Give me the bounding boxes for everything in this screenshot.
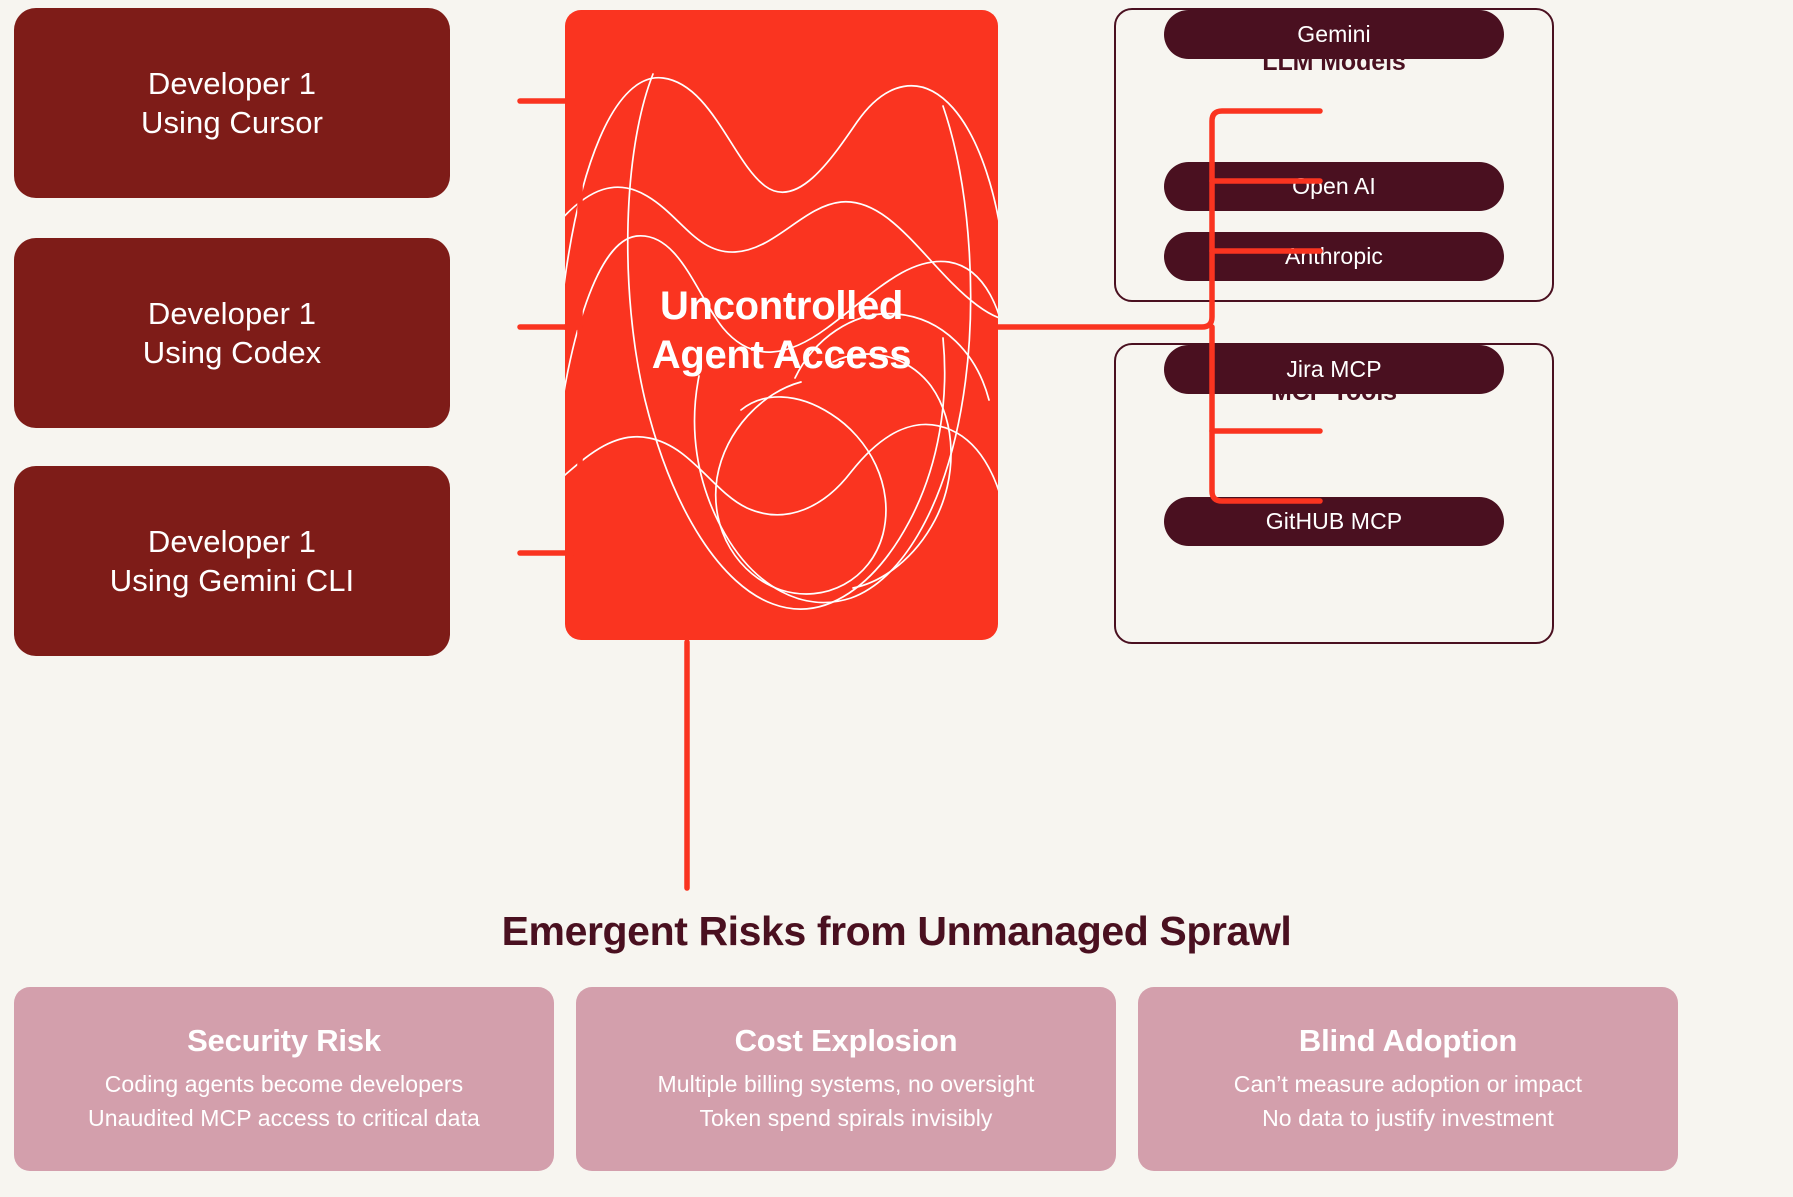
emergent-risks-heading: Emergent Risks from Unmanaged Sprawl: [0, 908, 1793, 955]
developer-box-line2: Using Gemini CLI: [110, 561, 355, 600]
risk-card-line1: Coding agents become developers: [105, 1067, 464, 1101]
pill-label: Jira MCP: [1286, 356, 1381, 383]
developer-box-codex[interactable]: Developer 1 Using Codex: [14, 238, 450, 428]
pill-anthropic[interactable]: Anthropic: [1164, 232, 1504, 281]
developer-box-line1: Developer 1: [148, 522, 316, 561]
risk-card-line1: Multiple billing systems, no oversight: [657, 1067, 1034, 1101]
llm-models-group: LLM Models Open AI Anthropic Gemini: [1114, 8, 1554, 302]
center-panel-title-line1: Uncontrolled: [565, 282, 998, 331]
developer-box-line2: Using Codex: [143, 333, 322, 372]
pill-gemini[interactable]: Gemini: [1164, 10, 1504, 59]
pill-label: GitHUB MCP: [1266, 508, 1402, 535]
developer-box-line1: Developer 1: [148, 294, 316, 333]
pill-open-ai[interactable]: Open AI: [1164, 162, 1504, 211]
risk-card-title: Cost Explosion: [735, 1023, 958, 1059]
risk-card-line2: Unaudited MCP access to critical data: [88, 1101, 480, 1135]
developer-box-cursor[interactable]: Developer 1 Using Cursor: [14, 8, 450, 198]
mcp-tools-group: MCP Tools GitHUB MCP Jira MCP: [1114, 343, 1554, 644]
risk-card-line2: Token spend spirals invisibly: [699, 1101, 992, 1135]
developer-box-line2: Using Cursor: [141, 103, 323, 142]
pill-label: Open AI: [1292, 173, 1376, 200]
risk-card-title: Blind Adoption: [1299, 1023, 1517, 1059]
center-panel-title: Uncontrolled Agent Access: [565, 282, 998, 380]
risk-card-cost[interactable]: Cost Explosion Multiple billing systems,…: [576, 987, 1116, 1171]
pill-github-mcp[interactable]: GitHUB MCP: [1164, 497, 1504, 546]
risk-card-line2: No data to justify investment: [1262, 1101, 1554, 1135]
risk-card-title: Security Risk: [187, 1023, 381, 1059]
developer-box-line1: Developer 1: [148, 64, 316, 103]
center-panel-title-line2: Agent Access: [565, 331, 998, 380]
diagram-canvas: Developer 1 Using Cursor Developer 1 Usi…: [0, 0, 1793, 1197]
pill-label: Gemini: [1297, 21, 1370, 48]
risk-card-blind-adoption[interactable]: Blind Adoption Can’t measure adoption or…: [1138, 987, 1678, 1171]
developer-box-gemini-cli[interactable]: Developer 1 Using Gemini CLI: [14, 466, 450, 656]
risk-card-security[interactable]: Security Risk Coding agents become devel…: [14, 987, 554, 1171]
pill-jira-mcp[interactable]: Jira MCP: [1164, 345, 1504, 394]
uncontrolled-agent-access-panel: Uncontrolled Agent Access: [565, 10, 998, 640]
risk-card-line1: Can’t measure adoption or impact: [1234, 1067, 1582, 1101]
pill-label: Anthropic: [1285, 243, 1383, 270]
